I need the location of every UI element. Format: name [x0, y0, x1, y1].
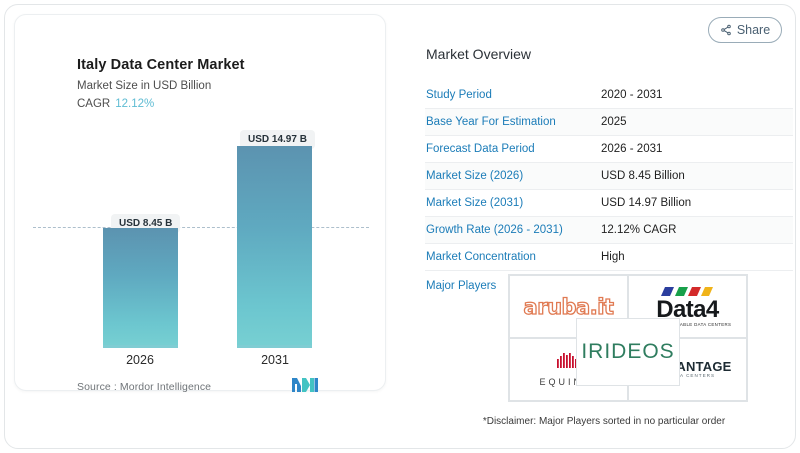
row-key: Market Size (2031) [425, 197, 601, 209]
row-key: Growth Rate (2026 - 2031) [425, 224, 601, 236]
row-key: Study Period [425, 89, 601, 101]
table-row: Base Year For Estimation 2025 [425, 109, 793, 136]
market-overview-panel: Market Overview Study Period 2020 - 2031… [408, 0, 800, 453]
bar-base-2026 [103, 345, 178, 348]
row-key: Market Concentration [425, 251, 601, 263]
reference-dashed-line [33, 227, 369, 228]
row-value: 12.12% CAGR [601, 224, 676, 236]
table-row: Market Concentration High [425, 244, 793, 271]
row-value: 2020 - 2031 [601, 89, 662, 101]
chart-card: Italy Data Center Market Market Size in … [14, 14, 386, 391]
row-value: High [601, 251, 625, 263]
table-row: Market Size (2026) USD 8.45 Billion [425, 163, 793, 190]
chart-source: Source : Mordor Intelligence [77, 381, 211, 393]
market-overview-table: Study Period 2020 - 2031 Base Year For E… [425, 82, 793, 301]
table-row: Study Period 2020 - 2031 [425, 82, 793, 109]
aruba-logo-text: aruba.it [524, 295, 614, 319]
row-value: USD 14.97 Billion [601, 197, 691, 209]
table-row: Growth Rate (2026 - 2031) 12.12% CAGR [425, 217, 793, 244]
row-value: USD 8.45 Billion [601, 170, 685, 182]
x-tick-label-2026: 2026 [95, 353, 185, 367]
bar-2026 [103, 228, 178, 347]
row-value: 2026 - 2031 [601, 143, 662, 155]
bar-chart-plot-area: USD 8.45 B 2026 USD 14.97 B 2031 [15, 15, 387, 392]
bar-base-2031 [237, 345, 312, 348]
table-row: Forecast Data Period 2026 - 2031 [425, 136, 793, 163]
row-key: Market Size (2026) [425, 170, 601, 182]
irideos-logo-text: IRIDEOS [581, 340, 674, 364]
disclaimer-text: *Disclaimer: Major Players sorted in no … [408, 416, 800, 427]
row-key: Forecast Data Period [425, 143, 601, 155]
player-logo-irideos: IRIDEOS [576, 318, 680, 386]
market-overview-title: Market Overview [426, 46, 531, 62]
mordor-intelligence-logo [292, 377, 318, 398]
bar-2031 [237, 146, 312, 347]
screenshot-root: Share Italy Data Center Market Market Si… [0, 0, 800, 453]
table-row: Market Size (2031) USD 14.97 Billion [425, 190, 793, 217]
x-tick-label-2031: 2031 [230, 353, 320, 367]
row-key: Base Year For Estimation [425, 116, 601, 128]
row-value: 2025 [601, 116, 627, 128]
